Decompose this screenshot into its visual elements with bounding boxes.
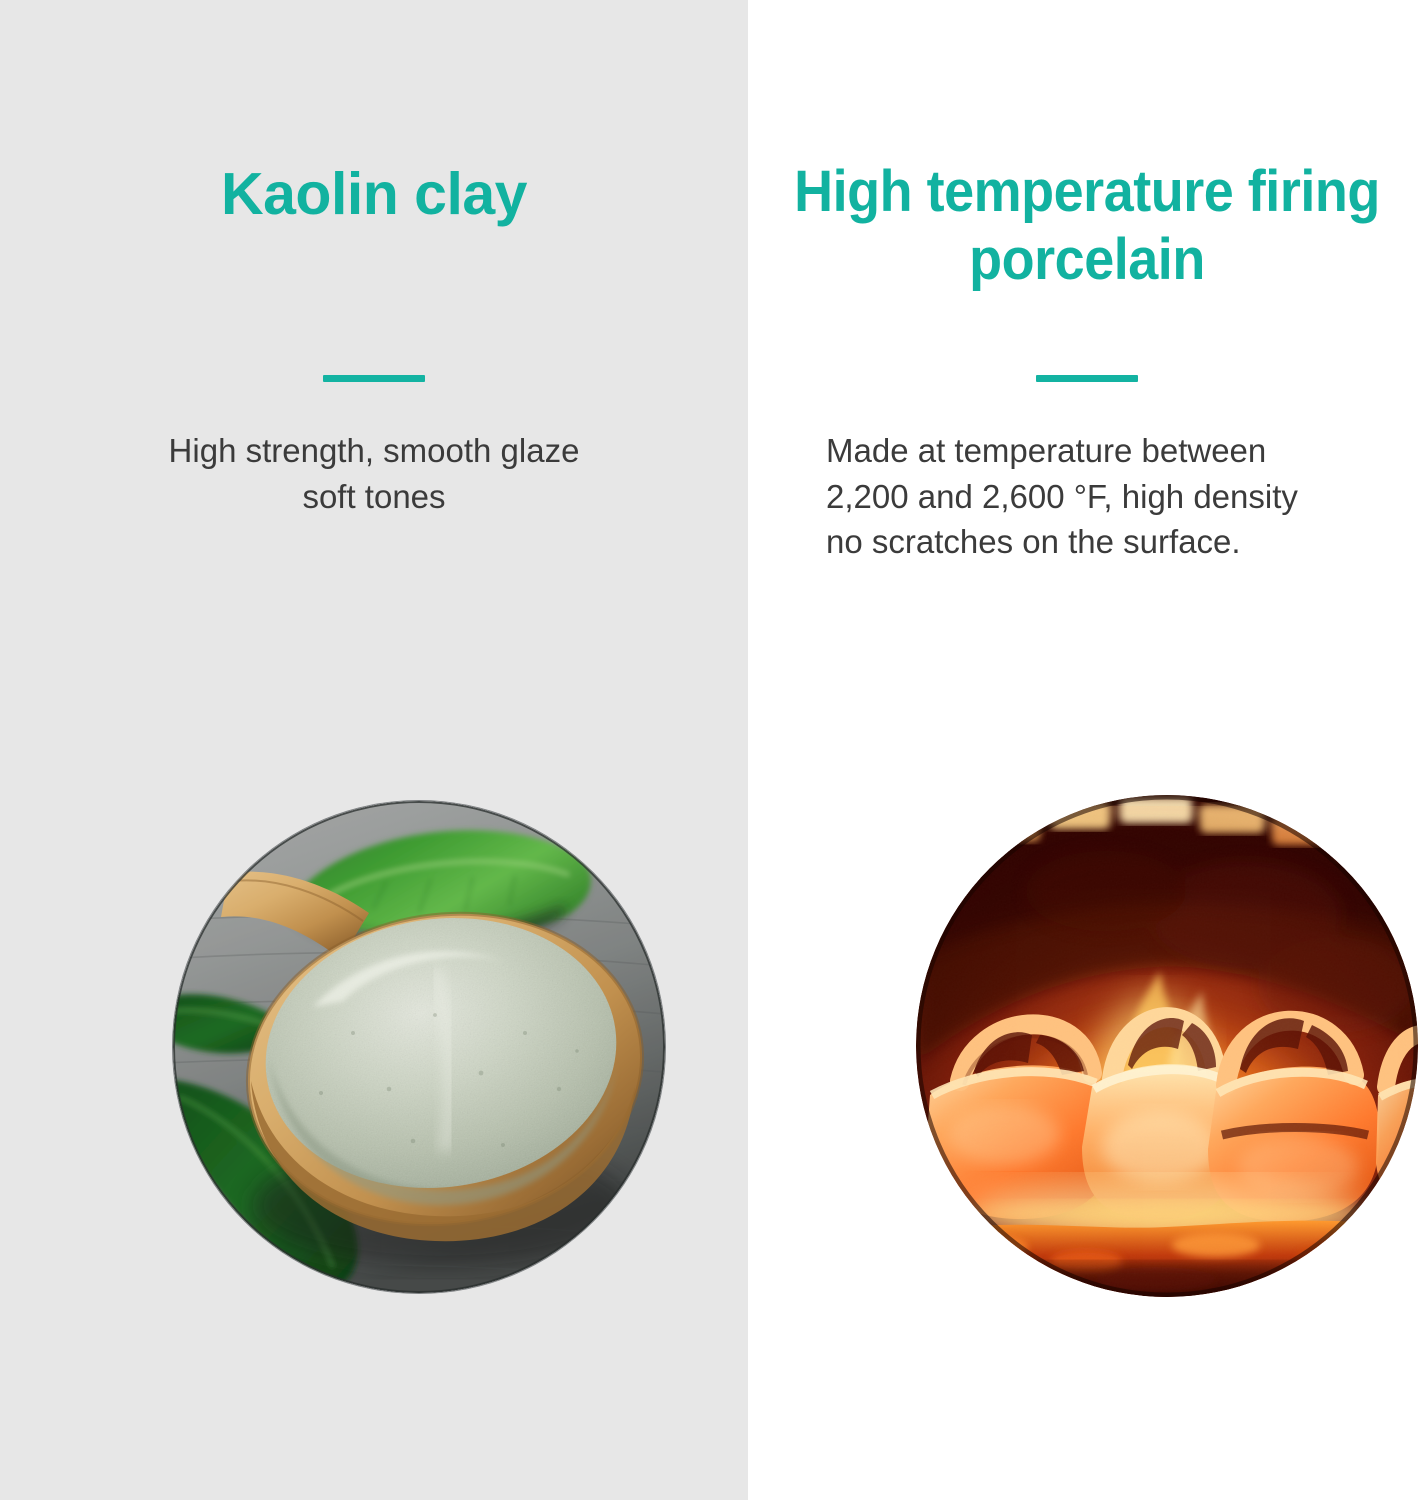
panel-kaolin-clay: Kaolin clay High strength, smooth glaze … (0, 0, 748, 1500)
kiln-firing-photo (916, 795, 1418, 1297)
panel-body-kaolin-clay: High strength, smooth glaze soft tones (0, 428, 748, 519)
accent-divider-right (748, 375, 1426, 382)
accent-rule-icon (323, 375, 425, 382)
panel-heading-high-temperature-firing-porcelain: High temperature firing porcelain (772, 158, 1403, 295)
panel-body-high-temperature-firing: Made at temperature between 2,200 and 2,… (748, 428, 1426, 565)
panel-heading-kaolin-clay: Kaolin clay (0, 160, 748, 230)
accent-rule-icon (1036, 375, 1138, 382)
feature-comparison-page: Kaolin clay High strength, smooth glaze … (0, 0, 1426, 1500)
accent-divider-left (0, 375, 748, 382)
kaolin-clay-photo (173, 801, 665, 1293)
panel-high-temperature-firing: High temperature firing porcelain Made a… (748, 0, 1426, 1500)
